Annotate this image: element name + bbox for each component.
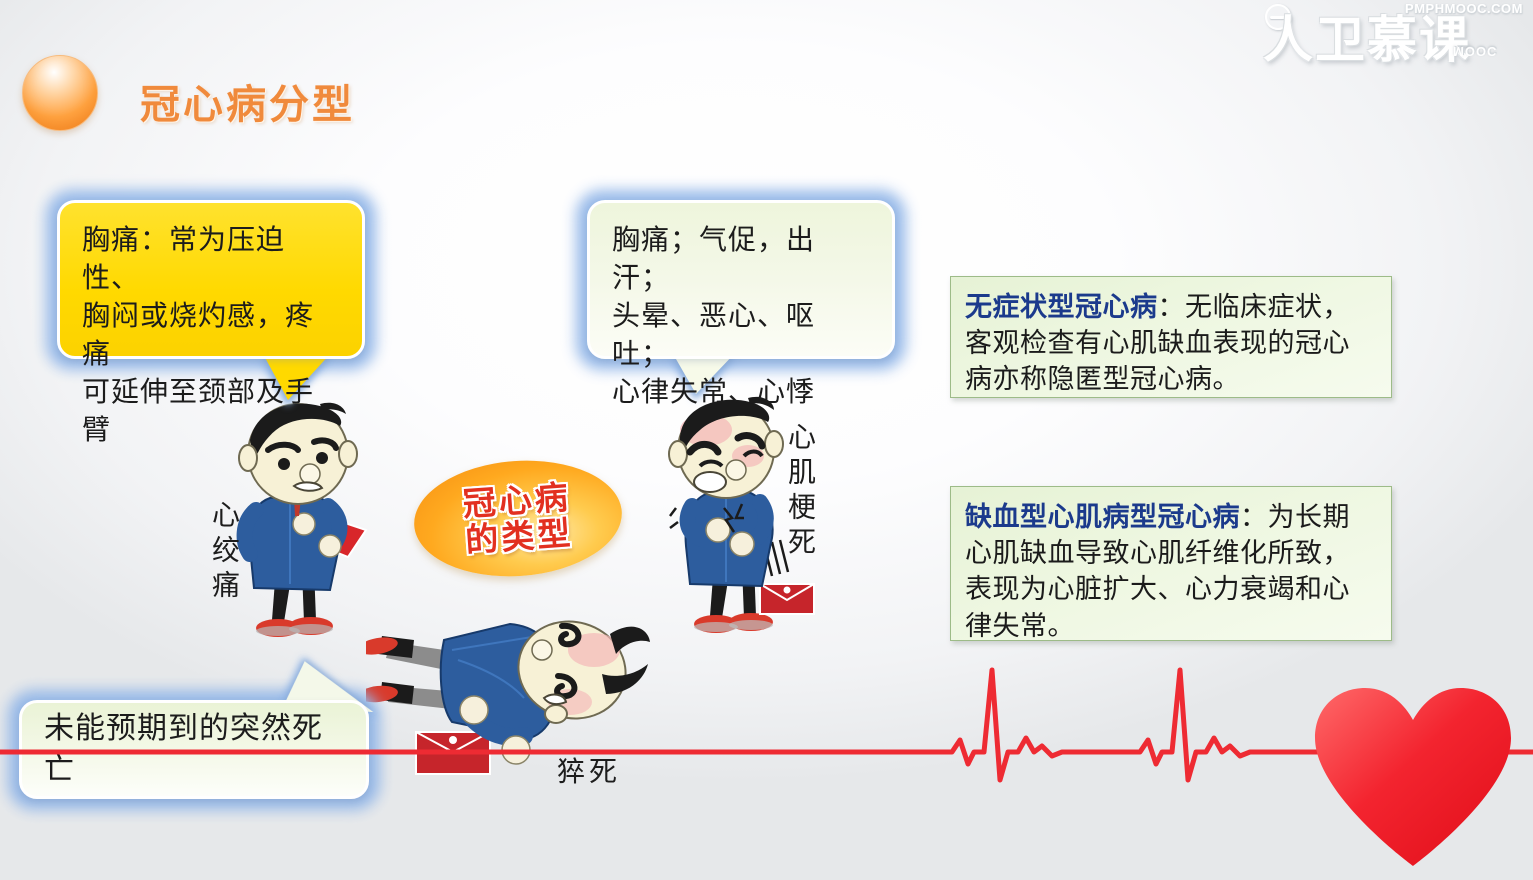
title-bullet-icon (22, 55, 98, 131)
watermark-badge-icon (1265, 4, 1291, 30)
center-type-line2: 的类型 (464, 515, 574, 558)
info-panel-asymptomatic: 无症状型冠心病：无临床症状，客观检查有心肌缺血表现的冠心病亦称隐匿型冠心病。 (950, 276, 1392, 398)
page-title: 冠心病分型 (140, 72, 355, 130)
watermark-brand: 人卫慕课 (1263, 0, 1471, 72)
figure-label-angina: 心绞痛 (210, 500, 238, 605)
speech-bubble-angina: 胸痛：常为压迫性、 胸闷或烧灼感，疼痛 可延伸至颈部及手臂 (57, 200, 365, 359)
figure-label-myocardial-infarction: 心肌梗死 (786, 422, 814, 562)
info-panel-ischemic-heading: 缺血型心肌病型冠心病 (965, 502, 1240, 532)
heart-icon (1307, 682, 1519, 872)
watermark-domain: PMPHMOOC.COM (1405, 1, 1523, 16)
watermark-brand-cn2: 慕课 (1367, 12, 1471, 68)
speech-bubble-myocardial-infarction: 胸痛；气促，出汗； 头晕、恶心、呕吐； 心律失常、心悸 (587, 200, 895, 359)
speech-bubble-sudden-death: 未能预期到的突然死亡 (19, 700, 369, 799)
watermark-brand-cn: 人卫 (1263, 12, 1367, 68)
watermark-mooc: MOOC (1453, 44, 1497, 59)
figure-label-sudden-death: 猝死 (557, 750, 621, 790)
watermark-logo: PMPHMOOC.COM 人卫慕课 MOOC (1257, 2, 1525, 64)
info-panel-ischemic-cardiomyopathy: 缺血型心肌病型冠心病：为长期心肌缺血导致心肌纤维化所致，表现为心脏扩大、心力衰竭… (950, 486, 1392, 641)
info-panel-asymptomatic-heading: 无症状型冠心病 (965, 292, 1158, 322)
center-type-badge: 冠心病 的类型 (410, 454, 626, 583)
slide-canvas: PMPHMOOC.COM 人卫慕课 MOOC 冠心病分型 (0, 0, 1533, 880)
